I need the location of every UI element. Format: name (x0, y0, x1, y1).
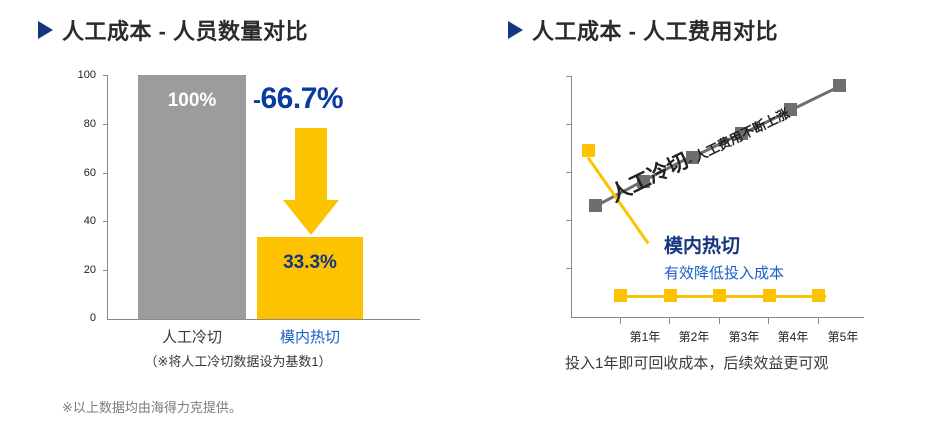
x-label-year-5: 第5年 (818, 328, 868, 345)
left-heading: 人工成本 - 人员数量对比 (38, 14, 308, 46)
y-tick-20 (103, 270, 108, 271)
x-label-year-3: 第3年 (719, 328, 769, 345)
x-label-year-2: 第2年 (669, 328, 719, 345)
y-tick-5 (566, 76, 571, 77)
x-axis-line (571, 317, 864, 318)
y-label-80: 80 (64, 118, 96, 130)
callout-title: 模内热切 (664, 231, 784, 258)
grey-marker-0 (589, 199, 602, 212)
y-tick-100 (103, 75, 108, 76)
bar-value-label-1: 100% (138, 91, 246, 110)
bar-manual-cold-cut: 100% (138, 75, 246, 319)
y-tick-4 (566, 124, 571, 125)
y-label-0: 0 (64, 312, 96, 324)
yellow-marker-3 (713, 289, 726, 302)
right-heading: 人工成本 - 人工费用对比 (508, 14, 778, 46)
x-tick-4 (768, 317, 769, 324)
x-tick-5 (818, 317, 819, 324)
yellow-line-segment-flat (626, 295, 826, 298)
x-label-year-1: 第1年 (620, 328, 670, 345)
triangle-right-icon (508, 21, 523, 39)
grey-series-label-sub: - 人工费用不断上涨 (685, 106, 792, 169)
y-label-60: 60 (64, 167, 96, 179)
yellow-marker-2 (664, 289, 677, 302)
grey-marker-5 (833, 79, 846, 92)
x-axis-line (107, 319, 420, 320)
y-label-40: 40 (64, 215, 96, 227)
baseline-note: （※将人工冷切数据设为基数1） (68, 351, 408, 370)
grey-series-label-main: 人工冷切 (607, 149, 693, 206)
right-bottom-note: 投入1年即可回收成本，后续效益更可观 (565, 352, 828, 373)
right-heading-text: 人工成本 - 人工费用对比 (532, 14, 778, 46)
yellow-marker-5 (812, 289, 825, 302)
y-label-100: 100 (64, 69, 96, 81)
y-label-20: 20 (64, 264, 96, 276)
left-chart-panel: 人工成本 - 人员数量对比 100 80 60 40 20 0 100% 33.… (0, 0, 475, 423)
x-tick-3 (719, 317, 720, 324)
category-label-2: 模内热切 (250, 326, 370, 347)
y-tick-2 (566, 220, 571, 221)
grey-series-label: 人工冷切- 人工费用不断上涨 (604, 96, 793, 209)
delta-value: 66.7% (261, 82, 344, 115)
yellow-marker-0 (582, 144, 595, 157)
triangle-right-icon (38, 21, 53, 39)
y-axis-line (107, 75, 108, 320)
delta-sign: - (253, 87, 261, 114)
right-chart-panel: 人工成本 - 人工费用对比 (475, 0, 950, 423)
y-tick-60 (103, 173, 108, 174)
labor-cost-line-chart: 人工冷切- 人工费用不断上涨 模内热切 有效降低投入成本 第1年 第2年 第3年… (570, 60, 900, 340)
x-label-year-4: 第4年 (768, 328, 818, 345)
down-arrow-head-icon (283, 200, 339, 235)
down-arrow-icon (295, 128, 327, 203)
y-tick-40 (103, 221, 108, 222)
y-tick-80 (103, 124, 108, 125)
yellow-marker-1 (614, 289, 627, 302)
category-label-1: 人工冷切 (132, 326, 252, 347)
yellow-marker-4 (763, 289, 776, 302)
y-axis-line (571, 76, 572, 318)
x-tick-1 (620, 317, 621, 324)
x-tick-2 (669, 317, 670, 324)
personnel-count-bar-chart: 100 80 60 40 20 0 100% 33.3% -66.7% 人工冷切… (60, 60, 420, 335)
bar-value-label-2: 33.3% (257, 253, 363, 272)
y-tick-1 (566, 268, 571, 269)
delta-callout: -66.7% (253, 82, 343, 116)
callout-subtitle: 有效降低投入成本 (664, 262, 784, 283)
left-heading-text: 人工成本 - 人员数量对比 (62, 14, 308, 46)
y-tick-3 (566, 172, 571, 173)
bar-in-mold-hot-cut: 33.3% (257, 237, 363, 319)
source-footnote: ※以上数据均由海得力克提供。 (62, 397, 242, 416)
yellow-series-callout: 模内热切 有效降低投入成本 (664, 231, 784, 283)
